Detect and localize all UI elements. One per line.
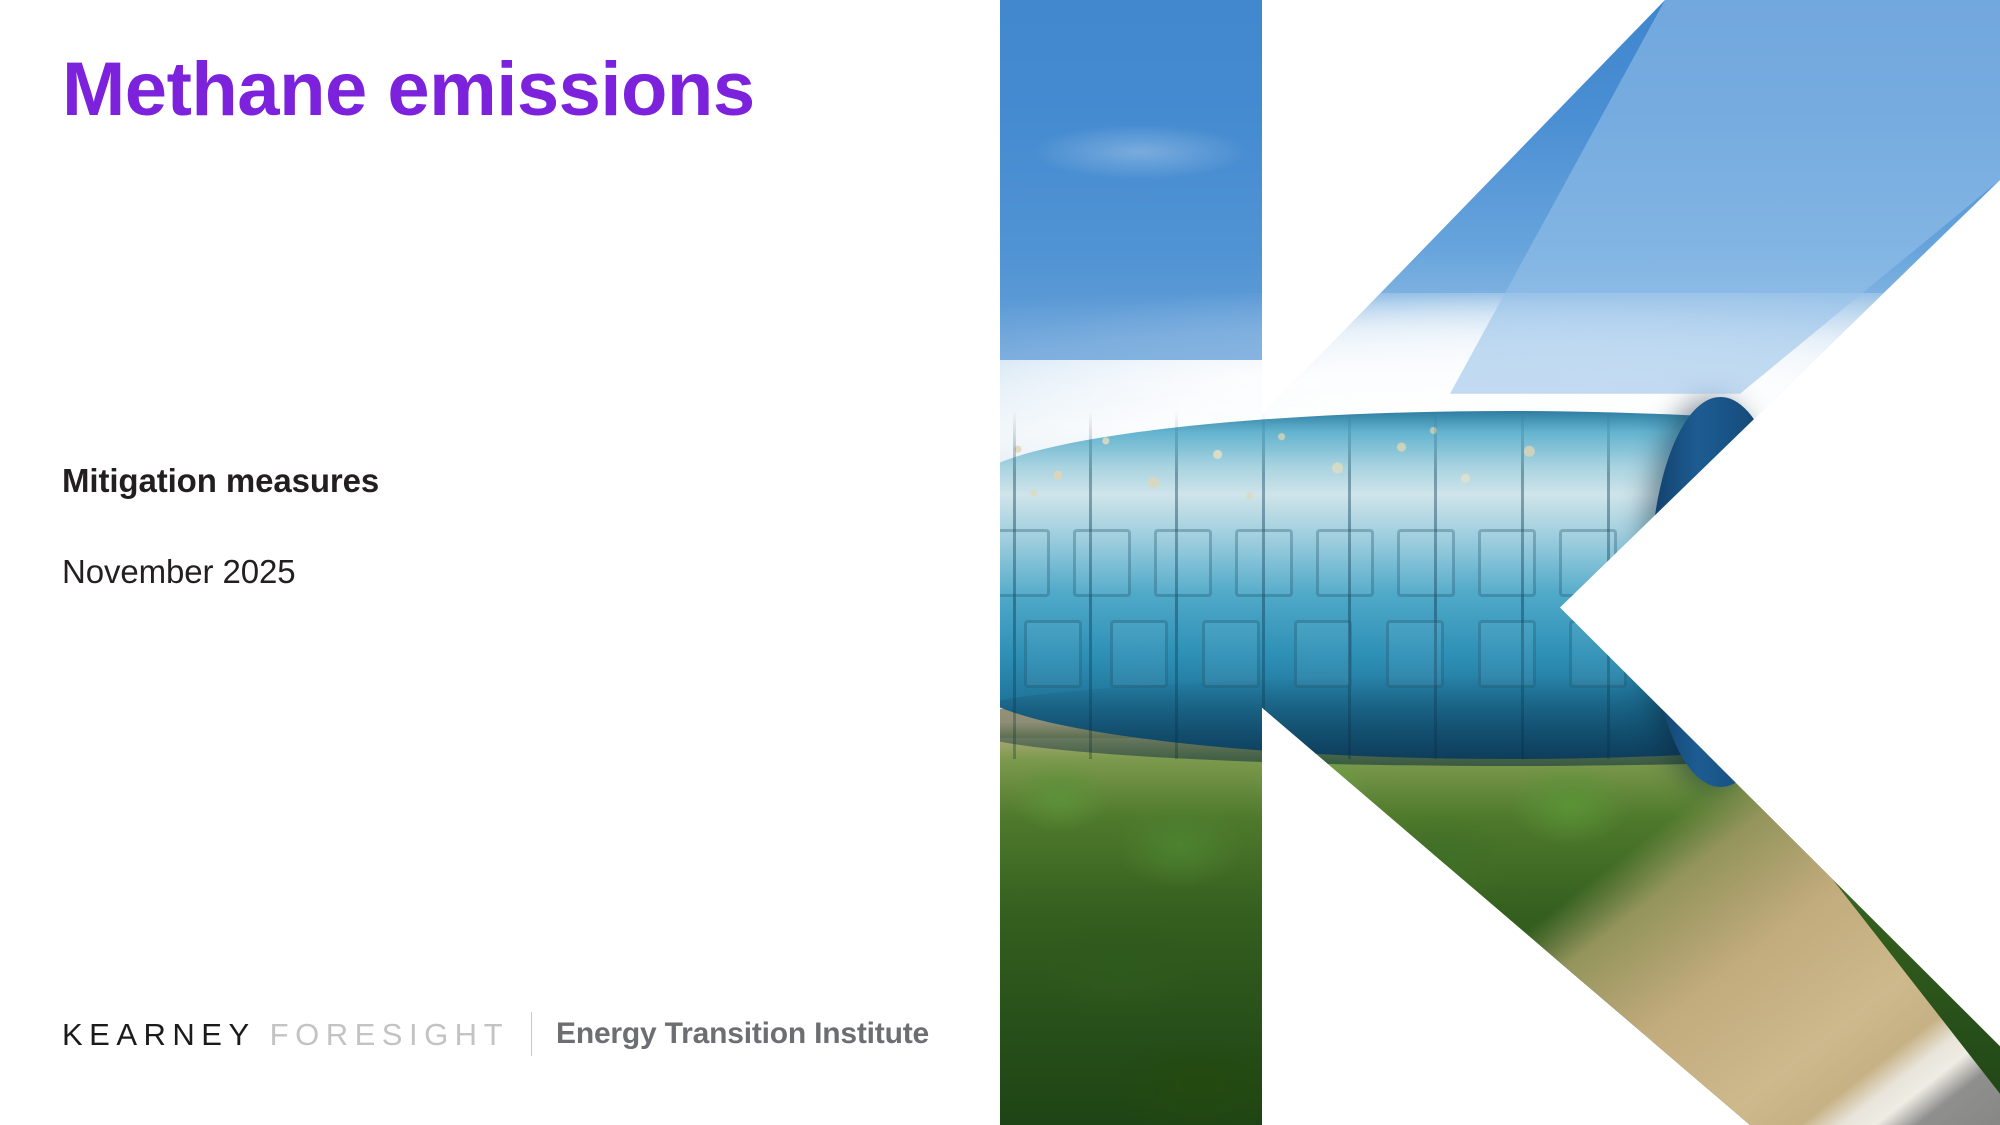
pipeline-weld-plate (1024, 620, 1082, 688)
pipeline-rib-seam (1953, 411, 1956, 760)
logo-lockup: KEARNEY FORESIGHT Energy Transition Inst… (62, 1013, 929, 1055)
pipeline-weld-plate (1294, 620, 1352, 688)
page-title: Methane emissions (62, 48, 755, 132)
slide-subtitle: Mitigation measures (62, 462, 379, 500)
logo-divider (531, 1012, 532, 1056)
pipeline-barrel (1000, 411, 2000, 760)
pipeline-rib-seam (1780, 411, 1783, 760)
pipeline-weld-plate (1110, 620, 1168, 688)
gas-pipeline (1000, 411, 2000, 760)
pipeline-weld-plate (1386, 620, 1444, 688)
k-letter-clip-mask (1000, 0, 2000, 1125)
pipeline-weld-plate (1235, 529, 1293, 597)
peeling-paint-texture (1000, 418, 1769, 523)
pipeline-weld-plate (1569, 620, 1627, 688)
pipeline-weld-plate (1000, 529, 1050, 597)
kearney-wordmark: KEARNEY (62, 1019, 256, 1050)
pipeline-weld-plate (1316, 529, 1374, 597)
pipeline-rib-seam (1866, 411, 1869, 760)
pipeline-underside-shadow (1000, 676, 2000, 767)
pipeline-weld-plate (1478, 620, 1536, 688)
pipeline-weld-plate (1154, 529, 1212, 597)
pipeline-weld-plate (1802, 529, 1860, 597)
pipeline-weld-plate (1559, 529, 1617, 597)
pipeline-weld-plate (1397, 529, 1455, 597)
foresight-wordmark: FORESIGHT (270, 1019, 509, 1050)
title-slide: Methane emissions Mitigation measures No… (0, 0, 2000, 1125)
energy-transition-institute-wordmark: Energy Transition Institute (556, 1019, 929, 1049)
title-text-column: Methane emissions Mitigation measures No… (0, 0, 1000, 1125)
pipeline-weld-plate (1661, 620, 1719, 688)
pipeline-far-section (1769, 414, 2000, 756)
pipeline-weld-plate (1721, 529, 1779, 597)
cloud-wisp (1030, 124, 1250, 180)
k-monogram-photo-panel (1000, 0, 2000, 1125)
pipeline-weld-plate (1748, 620, 1806, 688)
pipeline-rib-seam (1607, 411, 1610, 760)
pipeline-weld-plate (1073, 529, 1131, 597)
pipeline-weld-plate (1640, 529, 1698, 597)
pipeline-elbow-bend (1650, 397, 1790, 788)
pipeline-weld-plate (1478, 529, 1536, 597)
pipeline-weld-plate (1202, 620, 1260, 688)
slide-date: November 2025 (62, 553, 296, 591)
